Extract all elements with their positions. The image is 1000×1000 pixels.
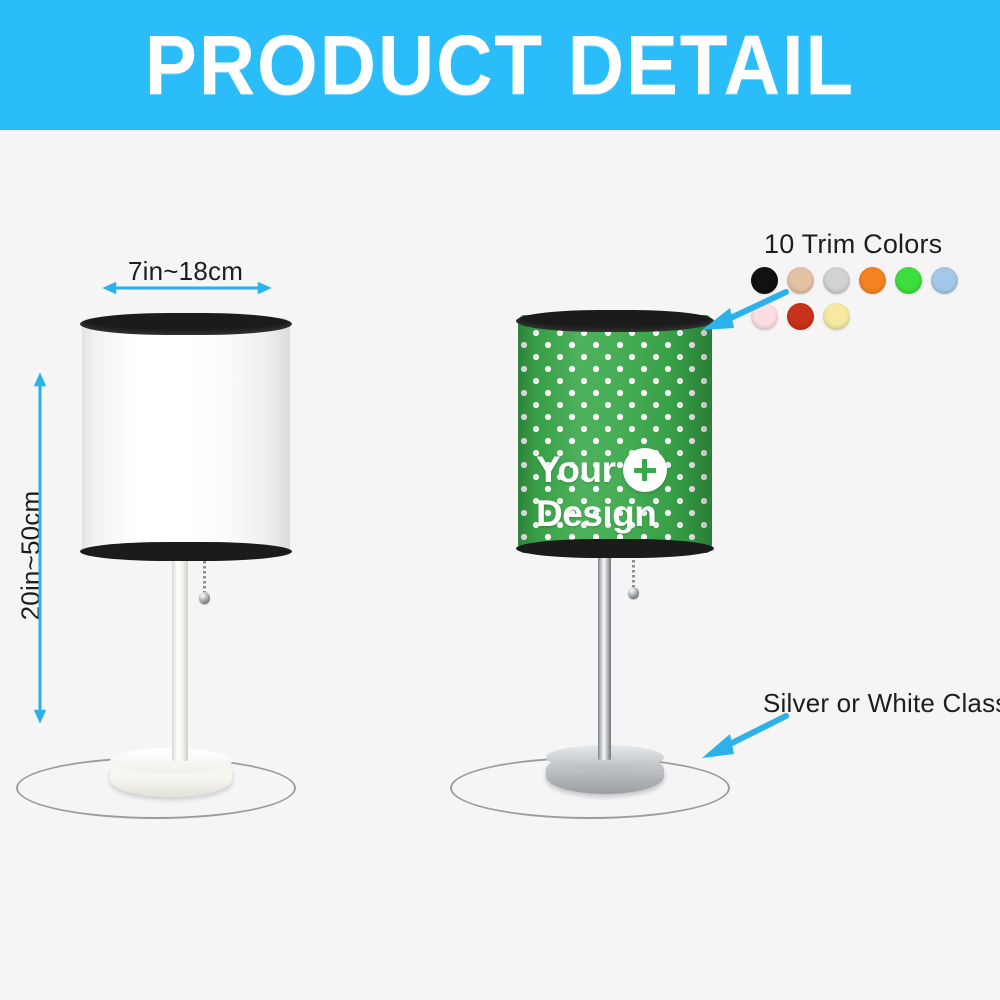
white-lamp-trim-bottom — [80, 542, 292, 561]
design-logo-row-1: Your — [536, 448, 667, 492]
green-lamp-trim-bottom — [516, 539, 714, 558]
plus-in-circle-icon — [623, 448, 667, 492]
trim-colors-title: 10 Trim Colors — [764, 229, 942, 260]
swatch-light-gray[interactable] — [823, 267, 850, 294]
swatch-green[interactable] — [895, 267, 922, 294]
trim-callout-arrow — [700, 288, 792, 332]
white-shade-surface — [82, 318, 290, 556]
height-dimension-arrow — [33, 322, 47, 774]
width-dimension-arrow — [78, 281, 296, 295]
green-lamp-chain-bead — [628, 587, 639, 599]
white-lamp-trim-top — [80, 313, 292, 335]
white-lamp-base-top — [110, 748, 232, 774]
swatch-orange[interactable] — [859, 267, 886, 294]
product-detail-page: PRODUCT DETAIL — [0, 0, 1000, 1000]
base-finish-label: Silver or White Classy — [763, 688, 1000, 719]
design-line-2: Design — [536, 496, 667, 532]
swatch-pale-yellow[interactable] — [823, 303, 850, 330]
your-design-logo: Your Design — [536, 448, 667, 532]
header-banner: PRODUCT DETAIL — [0, 0, 1000, 130]
green-lamp-trim-top — [516, 310, 714, 332]
design-line-1: Your — [536, 452, 616, 488]
white-lamp-pole — [172, 556, 188, 761]
white-lamp-chain-bead — [199, 592, 210, 604]
green-lamp-pole — [598, 550, 611, 760]
white-lamp-shade — [82, 318, 290, 556]
page-title: PRODUCT DETAIL — [145, 23, 855, 107]
swatch-light-blue[interactable] — [931, 267, 958, 294]
base-finish-callout-arrow — [700, 712, 792, 760]
